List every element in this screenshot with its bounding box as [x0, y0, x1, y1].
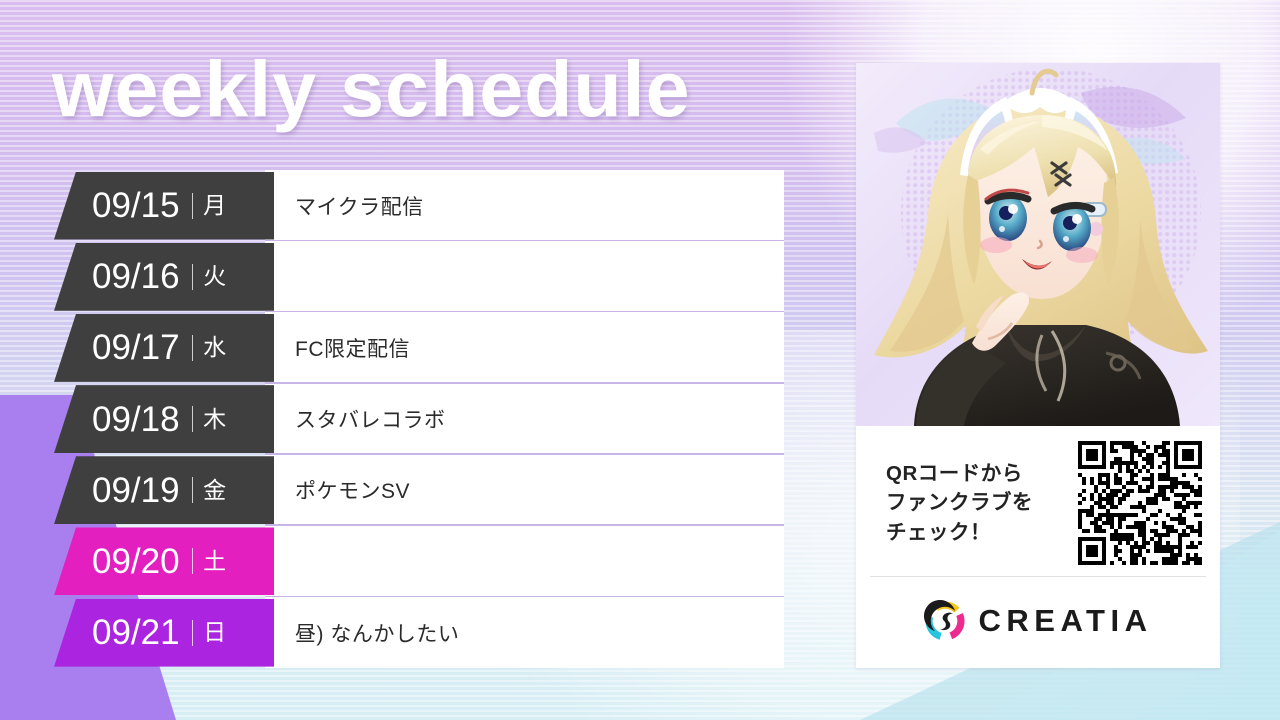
- schedule-date: 09/15: [92, 188, 180, 223]
- date-dow-separator: [192, 620, 194, 646]
- character-illustration: [856, 63, 1220, 426]
- schedule-date: 09/21: [92, 615, 180, 650]
- date-dow-separator: [192, 477, 194, 503]
- schedule-row: マイクラ配信09/15月: [0, 170, 790, 241]
- schedule-task-cell: FC限定配信: [265, 312, 784, 383]
- schedule-row: ポケモンSV09/19金: [0, 455, 790, 526]
- schedule-date: 09/20: [92, 544, 180, 579]
- schedule-date-chip: 09/16火: [54, 243, 274, 311]
- schedule-task-cell: 昼) なんかしたい: [265, 597, 784, 668]
- schedule-date-chip: 09/17水: [54, 314, 274, 382]
- date-dow-separator: [192, 193, 194, 219]
- schedule-date: 09/19: [92, 473, 180, 508]
- schedule-day-of-week: 木: [203, 408, 226, 431]
- schedule-row: 09/20土: [0, 526, 790, 597]
- schedule-date-chip: 09/21日: [54, 599, 274, 667]
- qr-code-image[interactable]: [1078, 441, 1202, 565]
- schedule-task-cell: [265, 241, 784, 312]
- date-dow-separator: [192, 264, 194, 290]
- schedule-row: 09/16火: [0, 241, 790, 312]
- qr-section: QRコードから ファンクラブを チェック！: [856, 426, 1220, 576]
- schedule-day-of-week: 日: [203, 621, 226, 644]
- schedule-row: スタバレコラボ09/18木: [0, 384, 790, 455]
- schedule-list: マイクラ配信09/15月09/16火FC限定配信09/17水スタバレコラボ09/…: [0, 170, 790, 668]
- date-dow-separator: [192, 335, 194, 361]
- date-dow-separator: [192, 406, 194, 432]
- schedule-date-chip: 09/18木: [54, 385, 274, 453]
- schedule-date: 09/17: [92, 330, 180, 365]
- schedule-date: 09/18: [92, 402, 180, 437]
- creatia-logo-icon: [924, 600, 966, 642]
- profile-card: QRコードから ファンクラブを チェック！ CREATIA: [856, 63, 1220, 668]
- schedule-day-of-week: 水: [203, 336, 226, 359]
- page-title: weekly schedule: [52, 49, 691, 128]
- schedule-task-cell: [265, 526, 784, 597]
- schedule-date-chip: 09/15月: [54, 172, 274, 240]
- schedule-poster: weekly schedule マイクラ配信09/15月09/16火FC限定配信…: [0, 0, 1280, 720]
- schedule-task-cell: マイクラ配信: [265, 170, 784, 241]
- schedule-task-cell: スタバレコラボ: [265, 384, 784, 455]
- brand-footer: CREATIA: [856, 577, 1220, 665]
- schedule-row: FC限定配信09/17水: [0, 312, 790, 383]
- schedule-day-of-week: 月: [203, 194, 226, 217]
- schedule-row: 昼) なんかしたい09/21日: [0, 597, 790, 668]
- date-dow-separator: [192, 548, 194, 574]
- schedule-task-text: ポケモンSV: [265, 475, 410, 505]
- schedule-task-text: スタバレコラボ: [265, 404, 446, 434]
- schedule-task-text: 昼) なんかしたい: [265, 618, 459, 648]
- schedule-day-of-week: 金: [203, 479, 226, 502]
- schedule-date-chip: 09/20土: [54, 527, 274, 595]
- brand-name: CREATIA: [979, 603, 1153, 639]
- schedule-date: 09/16: [92, 259, 180, 294]
- schedule-task-text: FC限定配信: [265, 333, 410, 363]
- qr-caption: QRコードから ファンクラブを チェック！: [886, 459, 1078, 546]
- schedule-date-chip: 09/19金: [54, 456, 274, 524]
- schedule-task-cell: ポケモンSV: [265, 455, 784, 526]
- schedule-task-text: マイクラ配信: [265, 191, 424, 221]
- schedule-day-of-week: 土: [203, 550, 226, 573]
- schedule-day-of-week: 火: [203, 265, 226, 288]
